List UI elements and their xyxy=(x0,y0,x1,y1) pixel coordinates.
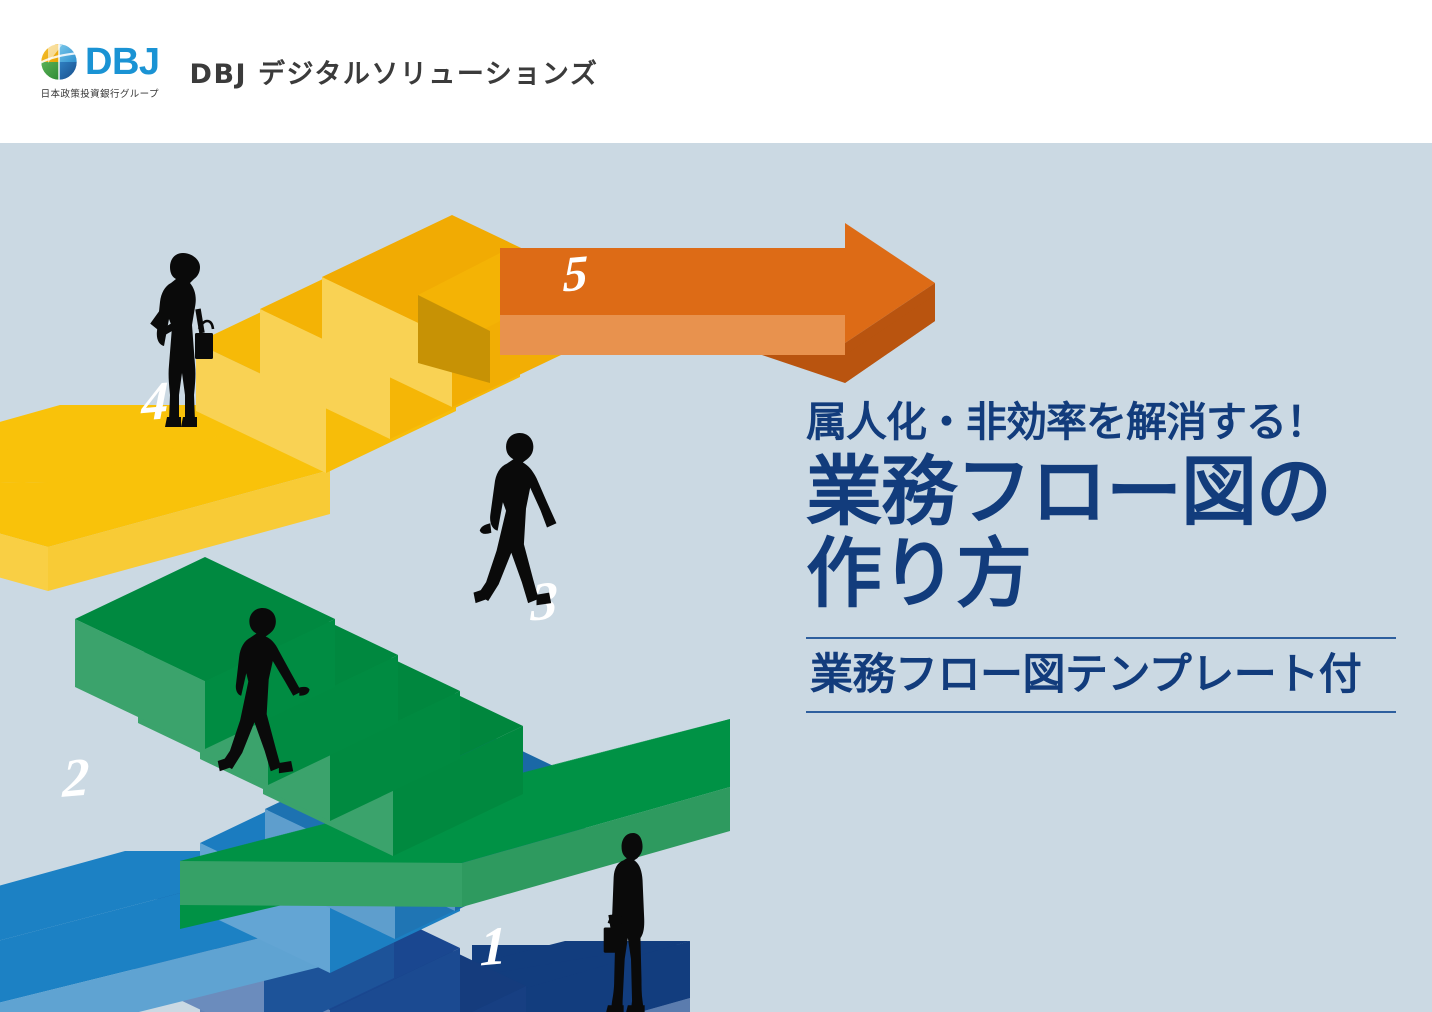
hero-subhead: 業務フロー図テンプレート付 xyxy=(806,639,1396,711)
step-number-1: 1 xyxy=(479,915,507,978)
step-number-4: 4 xyxy=(140,370,169,433)
hero-title-block: 属人化・非効率を解消する！ 業務フロー図の 作り方 業務フロー図テンプレート付 xyxy=(806,400,1396,713)
subhead-rule-bottom xyxy=(806,711,1396,713)
dbj-wordmark: DBJ xyxy=(85,43,160,81)
hero-headline-line-2: 作り方 xyxy=(806,533,1396,615)
hero-headline-line-1: 業務フロー図の xyxy=(806,451,1396,533)
step-number-5: 5 xyxy=(562,244,588,302)
dbj-logo[interactable]: DBJ 日本政策投資銀行グループ xyxy=(40,43,160,100)
page-header: DBJ 日本政策投資銀行グループ DBJ デジタルソリューションズ xyxy=(0,0,1432,143)
step-number-2: 2 xyxy=(61,746,90,809)
cover-page: DBJ 日本政策投資銀行グループ DBJ デジタルソリューションズ xyxy=(0,0,1432,1012)
dbj-globe-logo-icon xyxy=(40,43,78,81)
dbj-logo-tagline: 日本政策投資銀行グループ xyxy=(41,86,159,100)
hero-eyebrow: 属人化・非効率を解消する！ xyxy=(806,400,1396,445)
brand-lockup[interactable]: DBJ 日本政策投資銀行グループ DBJ デジタルソリューションズ xyxy=(0,43,598,100)
brand-name-text: DBJ デジタルソリューションズ xyxy=(190,52,599,91)
